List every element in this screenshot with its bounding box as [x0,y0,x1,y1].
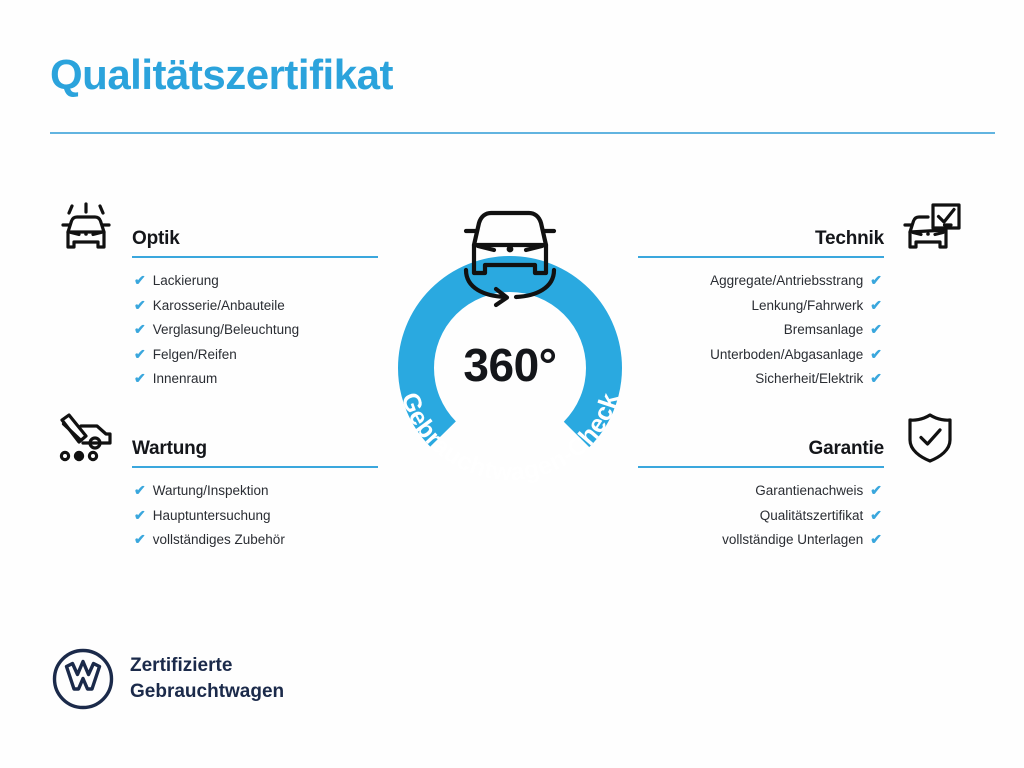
footer-line-2: Gebrauchtwagen [130,681,284,702]
check-icon: ✔ [134,371,146,385]
list-item-label: Innenraum [153,372,218,386]
list-item: ✔Felgen/Reifen [46,342,386,367]
section-technik-header: Technik [630,200,970,262]
section-wartung-header: Wartung [46,410,386,472]
section-optik-header: Optik [46,200,386,262]
list-item: ✔Garantienachweis [630,478,970,503]
check-icon: ✔ [134,532,146,546]
list-item: ✔Verglasung/Beleuchtung [46,317,386,342]
footer: Zertifizierte Gebrauchtwagen [52,648,284,710]
check-icon: ✔ [134,483,146,497]
section-garantie: Garantie ✔Garantienachweis ✔Qualitätszer… [630,410,970,552]
check-icon: ✔ [134,322,146,336]
section-wartung-list: ✔Wartung/Inspektion ✔Hauptuntersuchung ✔… [46,478,386,552]
car-service-pencil-icon [50,412,122,464]
list-item: ✔vollständige Unterlagen [630,527,970,552]
check-icon: ✔ [870,532,882,546]
list-item: ✔Karosserie/Anbauteile [46,293,386,318]
list-item-label: Qualitätszertifikat [760,509,864,523]
section-garantie-header: Garantie [630,410,970,472]
car-checkbox-icon [894,202,966,254]
list-item-label: Wartung/Inspektion [153,484,269,498]
section-technik-divider [638,256,884,258]
vw-logo [52,648,114,710]
list-item: ✔Bremsanlage [630,317,970,342]
list-item: ✔Unterboden/Abgasanlage [630,342,970,367]
section-optik-title: Optik [132,228,180,250]
list-item-label: Karosserie/Anbauteile [153,299,285,313]
list-item-label: vollständiges Zubehör [153,533,285,547]
footer-line-1: Zertifizierte [130,655,232,676]
list-item-label: Aggregate/Antriebsstrang [710,274,863,288]
check-icon: ✔ [134,347,146,361]
list-item-label: Felgen/Reifen [153,348,237,362]
list-item: ✔Wartung/Inspektion [46,478,386,503]
section-garantie-list: ✔Garantienachweis ✔Qualitätszertifikat ✔… [630,478,970,552]
section-optik-divider [132,256,378,258]
list-item-label: vollständige Unterlagen [722,533,863,547]
list-item-label: Sicherheit/Elektrik [755,372,863,386]
list-item-label: Unterboden/Abgasanlage [710,348,863,362]
footer-text: Zertifizierte Gebrauchtwagen [130,653,284,704]
list-item-label: Lackierung [153,274,219,288]
certificate-page: Qualitätszertifikat [0,0,1024,768]
section-technik: Technik ✔Aggregate/Antriebsstrang ✔Lenku… [630,200,970,391]
section-wartung-divider [132,466,378,468]
list-item-label: Hauptuntersuchung [153,509,271,523]
section-garantie-divider [638,466,884,468]
badge-360-check: Gebrauchtwagen-Check 360° [374,192,646,497]
list-item: ✔Innenraum [46,366,386,391]
list-item-label: Verglasung/Beleuchtung [153,323,299,337]
section-wartung-title: Wartung [132,438,207,460]
check-icon: ✔ [870,508,882,522]
badge-center-label: 360° [374,338,646,392]
section-garantie-title: Garantie [809,438,885,460]
list-item: ✔Qualitätszertifikat [630,503,970,528]
check-icon: ✔ [870,298,882,312]
list-item: ✔Lackierung [46,268,386,293]
check-icon: ✔ [134,273,146,287]
check-icon: ✔ [870,483,882,497]
list-item: ✔Aggregate/Antriebsstrang [630,268,970,293]
check-icon: ✔ [870,322,882,336]
list-item: ✔Lenkung/Fahrwerk [630,293,970,318]
section-technik-list: ✔Aggregate/Antriebsstrang ✔Lenkung/Fahrw… [630,268,970,391]
car-shine-icon [50,202,122,254]
check-icon: ✔ [134,508,146,522]
check-icon: ✔ [870,347,882,361]
section-technik-title: Technik [815,228,884,250]
check-icon: ✔ [134,298,146,312]
section-optik-list: ✔Lackierung ✔Karosserie/Anbauteile ✔Verg… [46,268,386,391]
list-item: ✔Sicherheit/Elektrik [630,366,970,391]
section-optik: Optik ✔Lackierung ✔Karosserie/Anbauteile… [46,200,386,391]
check-icon: ✔ [870,273,882,287]
list-item-label: Lenkung/Fahrwerk [751,299,863,313]
check-icon: ✔ [870,371,882,385]
list-item: ✔vollständiges Zubehör [46,527,386,552]
list-item-label: Garantienachweis [755,484,863,498]
list-item: ✔Hauptuntersuchung [46,503,386,528]
list-item-label: Bremsanlage [784,323,864,337]
shield-check-icon [894,412,966,464]
section-wartung: Wartung ✔Wartung/Inspektion ✔Hauptunters… [46,410,386,552]
